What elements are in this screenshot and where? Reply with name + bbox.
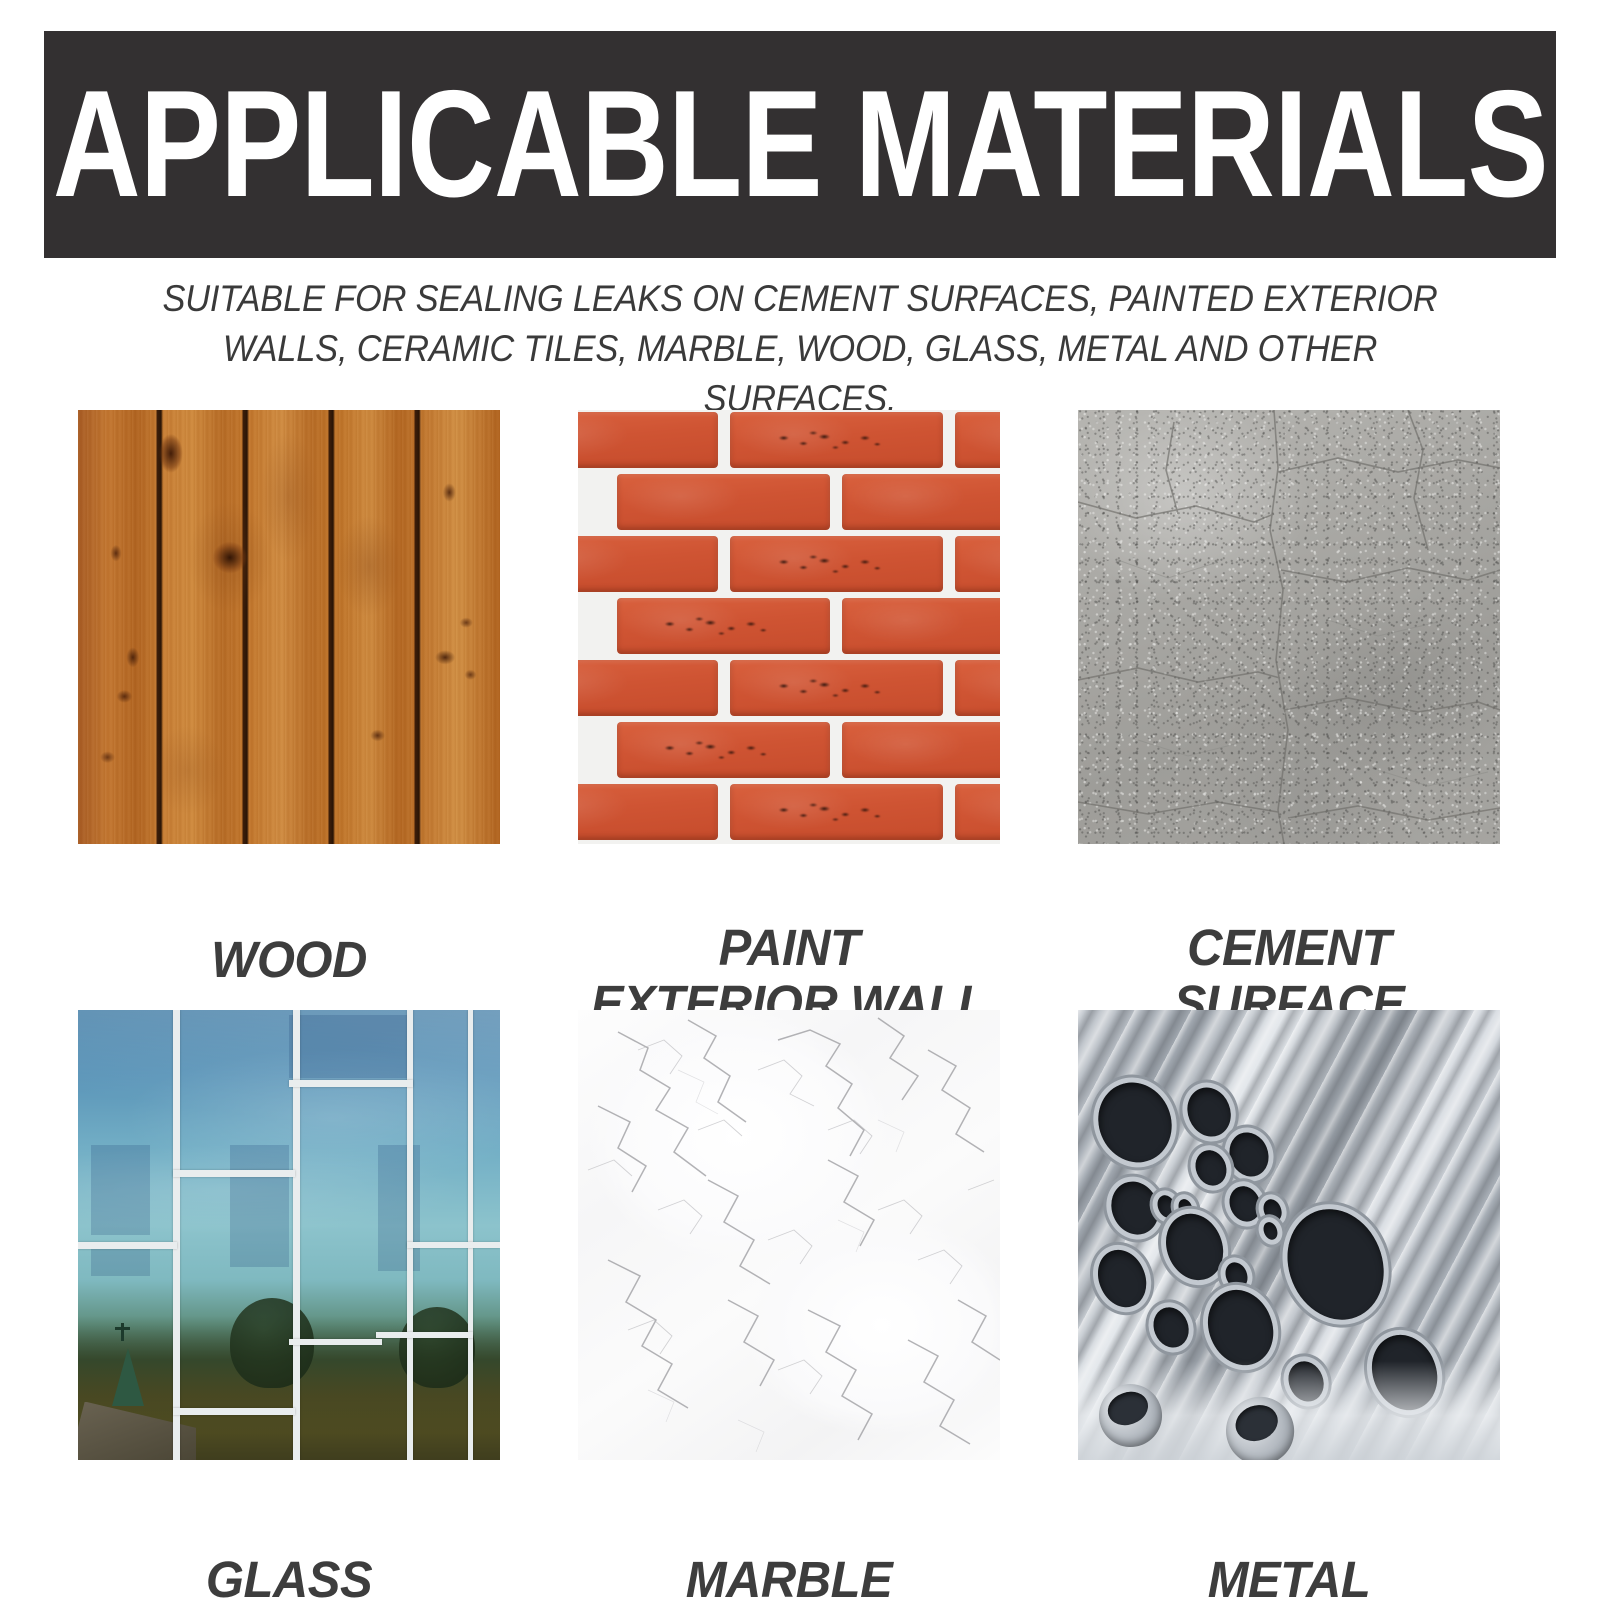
brick (730, 412, 943, 468)
wood-knots-overlay (78, 410, 500, 844)
window-mullion (173, 1170, 295, 1177)
material-image-marble (578, 1010, 1000, 1460)
material-image-wood (78, 410, 500, 844)
glass-pane (91, 1145, 150, 1235)
glass-pane (230, 1145, 289, 1267)
brick (730, 784, 943, 840)
subtitle-line-1: SUITABLE FOR SEALING LEAKS ON CEMENT SUR… (134, 274, 1466, 324)
material-caption-glass-text: GLASS (20, 1552, 558, 1600)
brick-course (578, 472, 1000, 534)
brick (955, 536, 1000, 592)
material-image-glass (78, 1010, 500, 1460)
brick-course (578, 720, 1000, 782)
window-mullion (173, 1010, 180, 1460)
brick (617, 598, 830, 654)
brick (955, 412, 1000, 468)
window-mullion (376, 1332, 473, 1338)
material-caption-glass: GLASS (9, 1496, 569, 1600)
brick (730, 536, 943, 592)
brick (955, 660, 1000, 716)
marble-vein-lines (578, 1010, 1000, 1460)
glass-church-spire-reflection (112, 1348, 144, 1406)
brick (578, 412, 718, 468)
applicable-materials-infographic: APPLICABLE MATERIALS SUITABLE FOR SEALIN… (0, 0, 1600, 1600)
cement-crack-lines (1078, 410, 1500, 844)
brick (955, 784, 1000, 840)
brick-course (578, 782, 1000, 844)
brick (842, 598, 1000, 654)
glass-pane (91, 1244, 150, 1276)
material-caption-marble-text: MARBLE (520, 1552, 1058, 1600)
window-mullion (289, 1080, 413, 1087)
window-mullion (78, 1242, 177, 1249)
brick-course (578, 534, 1000, 596)
material-caption-marble: MARBLE (509, 1496, 1069, 1600)
brick (842, 474, 1000, 530)
brick-course (578, 596, 1000, 658)
brick (730, 660, 943, 716)
window-mullion (407, 1242, 500, 1248)
red-brick-wall-texture (578, 410, 1000, 844)
window-mullion (289, 1339, 382, 1345)
material-caption-metal-text: METAL (1020, 1552, 1558, 1600)
material-image-metal (1078, 1010, 1500, 1460)
glass-pane (289, 1015, 407, 1078)
header-banner: APPLICABLE MATERIALS (44, 31, 1556, 258)
page-title: APPLICABLE MATERIALS (53, 75, 1548, 215)
brick-course (578, 410, 1000, 472)
brick-course (578, 658, 1000, 720)
brick (617, 722, 830, 778)
glass-cross-reflection (121, 1323, 124, 1341)
material-caption-metal: METAL (1009, 1496, 1569, 1600)
window-mullion (293, 1010, 300, 1460)
material-caption-wood-text: WOOD (20, 932, 558, 988)
material-image-paint-exterior-wall (578, 410, 1000, 844)
window-mullion (468, 1010, 473, 1460)
brick (617, 474, 830, 530)
brick (578, 536, 718, 592)
subtitle-line-2: WALLS, CERAMIC TILES, MARBLE, WOOD, GLAS… (134, 324, 1466, 424)
subtitle: SUITABLE FOR SEALING LEAKS ON CEMENT SUR… (84, 274, 1516, 424)
window-mullion (407, 1010, 413, 1460)
brick (578, 784, 718, 840)
brick (842, 722, 1000, 778)
brick (578, 660, 718, 716)
material-image-cement-surface (1078, 410, 1500, 844)
window-mullion (173, 1408, 295, 1415)
